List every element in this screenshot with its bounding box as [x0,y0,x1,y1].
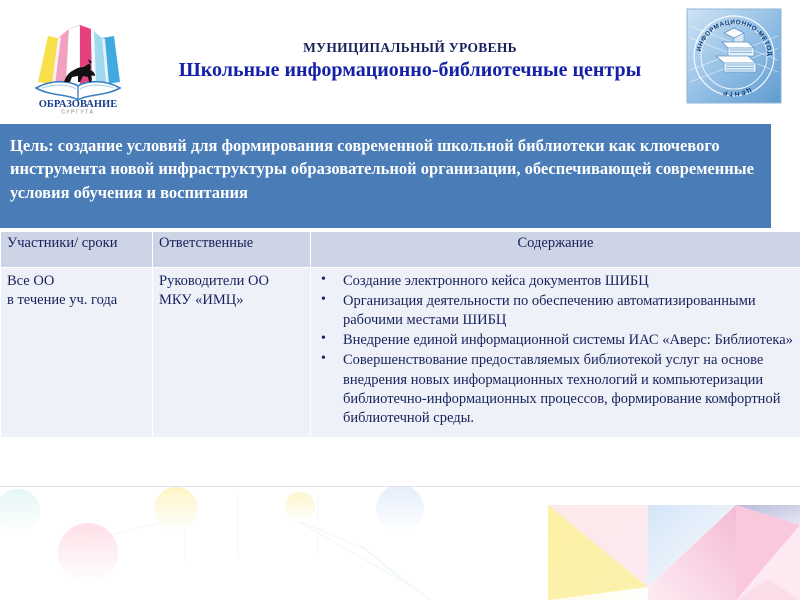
goal-banner: Цель: создание условий для формирования … [0,124,771,228]
list-item: Создание электронного кейса документов Ш… [317,272,794,291]
goal-text: Цель: создание условий для формирования … [10,134,757,204]
pastel-geometric-footer [0,487,800,600]
participants-line-1: Все ОО [7,272,146,291]
slide-header: ОБРАЗОВАНИЕ СУРГУТА МУНИЦИПАЛЬНЫЙ УРОВЕН… [0,0,800,124]
participants-line-2: в течение уч. года [7,291,146,310]
list-item: Организация деятельности по обеспечению … [317,292,794,331]
goal-label: Цель: [10,136,54,155]
logo-left-subtext: СУРГУТА [61,110,94,115]
cell-participants: Все ОО в течение уч. года [1,268,153,438]
table-row: Все ОО в течение уч. года Руководители О… [1,268,800,438]
list-item: Внедрение единой информационной системы … [317,331,794,350]
responsible-line-2: МКУ «ИМЦ» [159,291,304,310]
plan-table-wrapper: Участники/ сроки Ответственные Содержани… [0,231,800,438]
goal-body: создание условий для формирования соврем… [10,136,754,202]
title-kicker: МУНИЦИПАЛЬНЫЙ УРОВЕНЬ [150,40,670,56]
title-main: Школьные информационно-библиотечные цент… [150,58,670,82]
information-methodical-center-emblem: ИНФОРМАЦИОННО-МЕТОДИЧЕСКИЙ ЦЕНТР [686,8,782,104]
plan-table: Участники/ сроки Ответственные Содержани… [0,231,800,438]
content-bullet-list: Создание электронного кейса документов Ш… [317,272,794,429]
responsible-line-1: Руководители ОО [159,272,304,291]
page-title: МУНИЦИПАЛЬНЫЙ УРОВЕНЬ Школьные информаци… [150,40,670,82]
slide: ОБРАЗОВАНИЕ СУРГУТА МУНИЦИПАЛЬНЫЙ УРОВЕН… [0,0,800,600]
cell-responsible: Руководители ОО МКУ «ИМЦ» [153,268,311,438]
cell-content: Создание электронного кейса документов Ш… [311,268,800,438]
list-item: Совершенствование предоставляемых библио… [317,351,794,429]
column-header-responsible: Ответственные [153,232,311,268]
column-header-content: Содержание [311,232,800,268]
deco-triangles [548,505,800,600]
logo-left-wordmark: ОБРАЗОВАНИЕ [39,99,117,110]
column-header-participants: Участники/ сроки [1,232,153,268]
table-header-row: Участники/ сроки Ответственные Содержани… [1,232,800,268]
education-surgut-logo: ОБРАЗОВАНИЕ СУРГУТА [28,14,128,114]
